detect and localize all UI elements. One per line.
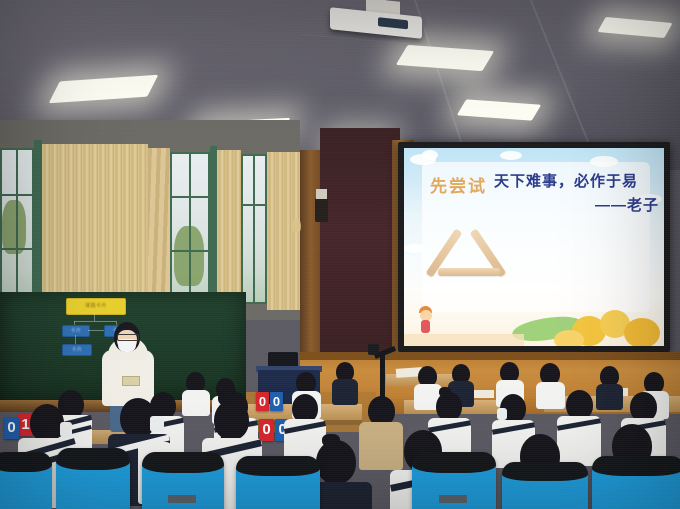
- classroom-photo: 先尝试 天下难事，必作于易 ——老子 课题卡片: [0, 0, 680, 509]
- score-card: 0: [259, 419, 274, 441]
- window-right: [241, 154, 267, 304]
- chair-label: [168, 495, 196, 502]
- chair-headrest: [412, 452, 496, 473]
- blackboard-card-yellow: 课题卡片: [66, 298, 126, 315]
- window-frame-post-left: [34, 140, 42, 312]
- classroom-chair[interactable]: [502, 462, 588, 509]
- wall-hook-icon: [292, 218, 301, 233]
- sand-ground: [404, 334, 524, 346]
- classroom-chair[interactable]: [592, 456, 680, 509]
- dark-wall-panel: [320, 128, 400, 358]
- window-left: [0, 148, 34, 308]
- triangle-made-of-sticks-icon: [436, 220, 510, 276]
- score-card: 0: [270, 392, 283, 411]
- classroom-chair[interactable]: [412, 452, 496, 509]
- eyeglasses-icon: [117, 334, 139, 341]
- wall-rail: [300, 352, 680, 360]
- blackboard-card-yellow-text: 课题卡片: [67, 302, 125, 310]
- chair-headrest: [502, 462, 588, 481]
- window-frame-post-middle: [210, 146, 217, 314]
- projection-screen-frame: 先尝试 天下难事，必作于易 ——老子: [398, 142, 670, 352]
- blackboard-card-blue-bottom-text: 卡片: [63, 346, 91, 354]
- blackboard-card-blue-left-text: 卡片: [63, 327, 89, 335]
- score-card: 0: [4, 417, 19, 439]
- chair-headrest: [56, 448, 130, 470]
- projector-body: [330, 7, 422, 39]
- chair-headrest: [0, 452, 52, 472]
- chair-headrest: [236, 456, 320, 476]
- curtain-fold: [148, 148, 170, 312]
- teacher-badge: [122, 376, 140, 386]
- vertical-slat-curtain: [42, 144, 148, 312]
- classroom-chair[interactable]: [236, 456, 320, 509]
- window-middle: [170, 152, 210, 310]
- projection-screen: 先尝试 天下难事，必作于易 ——老子: [404, 148, 664, 346]
- vertical-slat-curtain: [217, 150, 241, 310]
- stick-bottom: [438, 268, 500, 276]
- blackboard-card-blue-bottom: 卡片: [62, 344, 92, 356]
- chair-headrest: [592, 456, 680, 476]
- orange-fruit-icon: [624, 318, 660, 346]
- chair-headrest: [142, 452, 224, 473]
- blackboard-card-blue-left: 卡片: [62, 325, 90, 337]
- slide-attribution: ——老子: [494, 194, 659, 215]
- ceiling-projector: [330, 2, 422, 36]
- classroom-chair[interactable]: [0, 452, 52, 509]
- score-card: 0: [256, 392, 269, 411]
- slide-quote: 天下难事，必作于易: [494, 172, 659, 192]
- orange-fruit-icon: [554, 330, 584, 346]
- microphone-head-icon: [368, 344, 379, 355]
- wall-mounted-camera-icon: [315, 198, 328, 222]
- classroom-chair[interactable]: [56, 448, 130, 509]
- slide-title: 先尝试: [430, 172, 487, 197]
- classroom-chair[interactable]: [142, 452, 224, 509]
- chair-label: [439, 495, 468, 502]
